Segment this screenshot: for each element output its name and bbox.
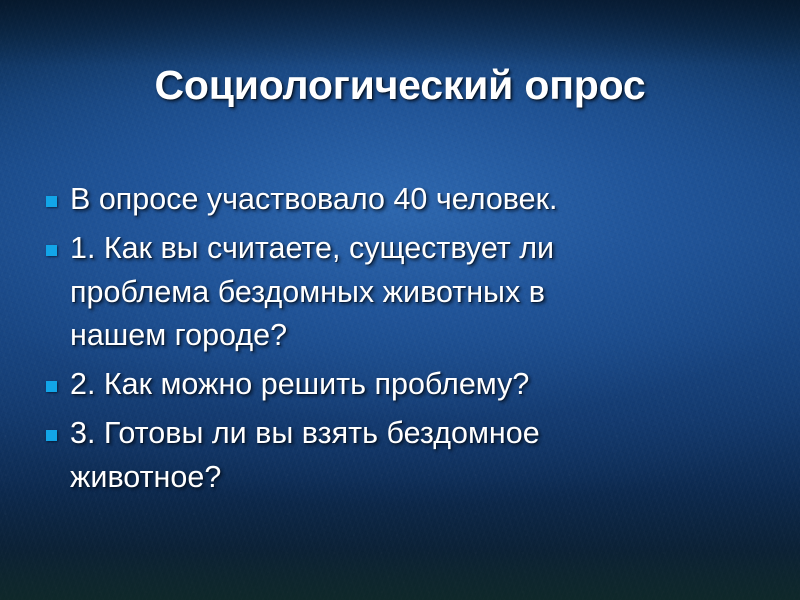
square-bullet-icon (46, 381, 57, 392)
bullet-item: В опросе участвовало 40 человек. (44, 178, 764, 221)
bullet-line: проблема бездомных животных в (70, 271, 764, 314)
square-bullet-icon (46, 196, 57, 207)
square-bullet-icon (46, 430, 57, 441)
bullet-item: 1. Как вы считаете, существует липроблем… (44, 227, 764, 357)
bullet-line: В опросе участвовало 40 человек. (70, 178, 764, 221)
bullet-line: животное? (70, 456, 764, 499)
slide-title: Социологический опрос (40, 64, 760, 107)
bullet-item: 2. Как можно решить проблему? (44, 363, 764, 406)
bullet-line: 1. Как вы считаете, существует ли (70, 227, 764, 270)
bullet-list: В опросе участвовало 40 человек.1. Как в… (44, 178, 764, 505)
slide-content: Социологический опрос В опросе участвова… (0, 0, 800, 600)
presentation-slide: Социологический опрос В опросе участвова… (0, 0, 800, 600)
bullet-item: 3. Готовы ли вы взять бездомноеживотное? (44, 412, 764, 499)
bullet-line: нашем городе? (70, 314, 764, 357)
bullet-line: 2. Как можно решить проблему? (70, 363, 764, 406)
bullet-line: 3. Готовы ли вы взять бездомное (70, 412, 764, 455)
square-bullet-icon (46, 245, 57, 256)
